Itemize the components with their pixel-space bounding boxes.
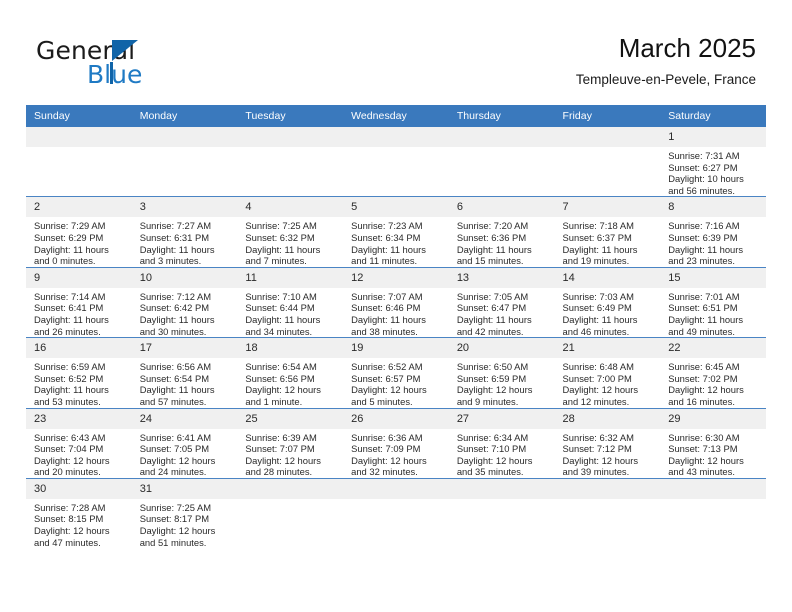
daylight-text-line1: Daylight: 12 hours: [34, 525, 126, 537]
daylight-text-line1: Daylight: 11 hours: [34, 244, 126, 256]
daylight-text-line1: Daylight: 11 hours: [668, 244, 760, 256]
daylight-text-line1: Daylight: 11 hours: [351, 314, 443, 326]
day-number: 24: [132, 409, 238, 429]
calendar-day-cell[interactable]: 17Sunrise: 6:56 AMSunset: 6:54 PMDayligh…: [132, 338, 238, 408]
calendar-day-cell[interactable]: 5Sunrise: 7:23 AMSunset: 6:34 PMDaylight…: [343, 197, 449, 267]
sunrise-text: Sunrise: 6:30 AM: [668, 432, 760, 444]
day-number: [555, 479, 661, 499]
daylight-text-line2: and 43 minutes.: [668, 466, 760, 478]
weekday-header-monday: Monday: [132, 105, 238, 127]
day-number: [660, 479, 766, 499]
sunset-text: Sunset: 6:31 PM: [140, 232, 232, 244]
daylight-text-line1: Daylight: 12 hours: [351, 384, 443, 396]
day-details: Sunrise: 6:48 AMSunset: 7:00 PMDaylight:…: [555, 358, 661, 407]
daylight-text-line1: Daylight: 11 hours: [140, 384, 232, 396]
day-number: 29: [660, 409, 766, 429]
daylight-text-line2: and 42 minutes.: [457, 326, 549, 338]
daylight-text-line1: Daylight: 12 hours: [140, 455, 232, 467]
day-number: 16: [26, 338, 132, 358]
sunrise-text: Sunrise: 7:18 AM: [563, 220, 655, 232]
daylight-text-line2: and 23 minutes.: [668, 255, 760, 267]
day-details: Sunrise: 7:25 AMSunset: 6:32 PMDaylight:…: [237, 217, 343, 266]
calendar-day-cell[interactable]: 11Sunrise: 7:10 AMSunset: 6:44 PMDayligh…: [237, 267, 343, 337]
sunrise-text: Sunrise: 7:27 AM: [140, 220, 232, 232]
day-number: 7: [555, 197, 661, 217]
daylight-text-line2: and 12 minutes.: [563, 396, 655, 408]
sunrise-text: Sunrise: 6:36 AM: [351, 432, 443, 444]
daylight-text-line2: and 15 minutes.: [457, 255, 549, 267]
daylight-text-line2: and 0 minutes.: [34, 255, 126, 267]
daylight-text-line2: and 30 minutes.: [140, 326, 232, 338]
sunset-text: Sunset: 6:52 PM: [34, 373, 126, 385]
sunrise-text: Sunrise: 6:54 AM: [245, 361, 337, 373]
daylight-text-line2: and 56 minutes.: [668, 185, 760, 197]
calendar-week-row: 1Sunrise: 7:31 AMSunset: 6:27 PMDaylight…: [26, 127, 766, 197]
daylight-text-line2: and 49 minutes.: [668, 326, 760, 338]
day-number: 22: [660, 338, 766, 358]
sunset-text: Sunset: 6:49 PM: [563, 302, 655, 314]
calendar-day-cell[interactable]: 1Sunrise: 7:31 AMSunset: 6:27 PMDaylight…: [660, 127, 766, 197]
sunrise-text: Sunrise: 6:43 AM: [34, 432, 126, 444]
sunset-text: Sunset: 6:46 PM: [351, 302, 443, 314]
sunrise-text: Sunrise: 6:50 AM: [457, 361, 549, 373]
sunrise-text: Sunrise: 7:14 AM: [34, 291, 126, 303]
sunset-text: Sunset: 6:37 PM: [563, 232, 655, 244]
daylight-text-line2: and 24 minutes.: [140, 466, 232, 478]
calendar-day-cell[interactable]: 22Sunrise: 6:45 AMSunset: 7:02 PMDayligh…: [660, 338, 766, 408]
calendar-day-cell[interactable]: 15Sunrise: 7:01 AMSunset: 6:51 PMDayligh…: [660, 267, 766, 337]
sunrise-text: Sunrise: 7:25 AM: [245, 220, 337, 232]
day-details: Sunrise: 7:25 AMSunset: 8:17 PMDaylight:…: [132, 499, 238, 548]
day-details: Sunrise: 6:54 AMSunset: 6:56 PMDaylight:…: [237, 358, 343, 407]
calendar-grid: Sunday Monday Tuesday Wednesday Thursday…: [26, 105, 766, 548]
sunset-text: Sunset: 7:05 PM: [140, 443, 232, 455]
page-header: General Blue March 2025 Templeuve-en-Pev…: [0, 0, 792, 104]
calendar-day-cell[interactable]: 29Sunrise: 6:30 AMSunset: 7:13 PMDayligh…: [660, 408, 766, 478]
calendar-day-cell[interactable]: 24Sunrise: 6:41 AMSunset: 7:05 PMDayligh…: [132, 408, 238, 478]
day-number: 27: [449, 409, 555, 429]
day-number: [132, 127, 238, 147]
day-number: 4: [237, 197, 343, 217]
daylight-text-line1: Daylight: 10 hours: [668, 173, 760, 185]
weekday-header-thursday: Thursday: [449, 105, 555, 127]
sunrise-text: Sunrise: 6:52 AM: [351, 361, 443, 373]
day-details: Sunrise: 7:20 AMSunset: 6:36 PMDaylight:…: [449, 217, 555, 266]
day-number: 19: [343, 338, 449, 358]
sunset-text: Sunset: 7:13 PM: [668, 443, 760, 455]
calendar-day-cell[interactable]: 31Sunrise: 7:25 AMSunset: 8:17 PMDayligh…: [132, 478, 238, 548]
daylight-text-line1: Daylight: 11 hours: [563, 244, 655, 256]
logo-word-blue: Blue: [87, 60, 142, 89]
calendar-day-cell-empty: [555, 478, 661, 548]
sunset-text: Sunset: 7:00 PM: [563, 373, 655, 385]
sunrise-text: Sunrise: 7:05 AM: [457, 291, 549, 303]
daylight-text-line1: Daylight: 12 hours: [34, 455, 126, 467]
sunrise-text: Sunrise: 7:31 AM: [668, 150, 760, 162]
day-details: Sunrise: 7:14 AMSunset: 6:41 PMDaylight:…: [26, 288, 132, 337]
sunrise-text: Sunrise: 6:41 AM: [140, 432, 232, 444]
calendar-week-row: 9Sunrise: 7:14 AMSunset: 6:41 PMDaylight…: [26, 267, 766, 337]
weekday-header-saturday: Saturday: [660, 105, 766, 127]
day-number: 1: [660, 127, 766, 147]
calendar-day-cell[interactable]: 10Sunrise: 7:12 AMSunset: 6:42 PMDayligh…: [132, 267, 238, 337]
calendar-day-cell[interactable]: 30Sunrise: 7:28 AMSunset: 8:15 PMDayligh…: [26, 478, 132, 548]
daylight-text-line2: and 53 minutes.: [34, 396, 126, 408]
calendar-day-cell-empty: [343, 127, 449, 197]
day-details: Sunrise: 7:10 AMSunset: 6:44 PMDaylight:…: [237, 288, 343, 337]
daylight-text-line1: Daylight: 11 hours: [245, 244, 337, 256]
calendar-page: General Blue March 2025 Templeuve-en-Pev…: [0, 0, 792, 612]
day-number: 31: [132, 479, 238, 499]
calendar-day-cell-empty: [449, 478, 555, 548]
day-number: 2: [26, 197, 132, 217]
sunset-text: Sunset: 6:57 PM: [351, 373, 443, 385]
calendar-day-cell[interactable]: 21Sunrise: 6:48 AMSunset: 7:00 PMDayligh…: [555, 338, 661, 408]
sunset-text: Sunset: 6:39 PM: [668, 232, 760, 244]
weekday-header-row: Sunday Monday Tuesday Wednesday Thursday…: [26, 105, 766, 127]
calendar-day-cell[interactable]: 27Sunrise: 6:34 AMSunset: 7:10 PMDayligh…: [449, 408, 555, 478]
calendar-day-cell-empty: [343, 478, 449, 548]
sunset-text: Sunset: 6:32 PM: [245, 232, 337, 244]
day-details: Sunrise: 7:27 AMSunset: 6:31 PMDaylight:…: [132, 217, 238, 266]
day-number: 15: [660, 268, 766, 288]
day-number: 14: [555, 268, 661, 288]
day-details: Sunrise: 6:43 AMSunset: 7:04 PMDaylight:…: [26, 429, 132, 478]
sunset-text: Sunset: 6:44 PM: [245, 302, 337, 314]
daylight-text-line1: Daylight: 11 hours: [140, 244, 232, 256]
sunrise-text: Sunrise: 7:28 AM: [34, 502, 126, 514]
day-details: Sunrise: 7:01 AMSunset: 6:51 PMDaylight:…: [660, 288, 766, 337]
sunrise-text: Sunrise: 6:32 AM: [563, 432, 655, 444]
day-number: [449, 479, 555, 499]
daylight-text-line2: and 11 minutes.: [351, 255, 443, 267]
sunset-text: Sunset: 6:34 PM: [351, 232, 443, 244]
daylight-text-line2: and 20 minutes.: [34, 466, 126, 478]
sunrise-text: Sunrise: 6:59 AM: [34, 361, 126, 373]
day-details: Sunrise: 6:45 AMSunset: 7:02 PMDaylight:…: [660, 358, 766, 407]
daylight-text-line2: and 57 minutes.: [140, 396, 232, 408]
sunrise-text: Sunrise: 6:48 AM: [563, 361, 655, 373]
calendar-day-cell-empty: [237, 127, 343, 197]
sunset-text: Sunset: 6:29 PM: [34, 232, 126, 244]
sunrise-text: Sunrise: 7:12 AM: [140, 291, 232, 303]
sunrise-text: Sunrise: 6:56 AM: [140, 361, 232, 373]
general-blue-logo[interactable]: General Blue: [36, 36, 216, 92]
day-details: Sunrise: 6:36 AMSunset: 7:09 PMDaylight:…: [343, 429, 449, 478]
day-details: Sunrise: 6:59 AMSunset: 6:52 PMDaylight:…: [26, 358, 132, 407]
day-number: [555, 127, 661, 147]
calendar-day-cell[interactable]: 2Sunrise: 7:29 AMSunset: 6:29 PMDaylight…: [26, 197, 132, 267]
day-details: Sunrise: 7:12 AMSunset: 6:42 PMDaylight:…: [132, 288, 238, 337]
daylight-text-line2: and 34 minutes.: [245, 326, 337, 338]
calendar-week-row: 30Sunrise: 7:28 AMSunset: 8:15 PMDayligh…: [26, 478, 766, 548]
calendar-week-row: 16Sunrise: 6:59 AMSunset: 6:52 PMDayligh…: [26, 338, 766, 408]
sunset-text: Sunset: 6:54 PM: [140, 373, 232, 385]
daylight-text-line1: Daylight: 12 hours: [245, 455, 337, 467]
sunset-text: Sunset: 6:51 PM: [668, 302, 760, 314]
title-block: March 2025 Templeuve-en-Pevele, France: [576, 32, 756, 88]
daylight-text-line2: and 16 minutes.: [668, 396, 760, 408]
daylight-text-line1: Daylight: 11 hours: [351, 244, 443, 256]
day-details: Sunrise: 7:03 AMSunset: 6:49 PMDaylight:…: [555, 288, 661, 337]
daylight-text-line1: Daylight: 11 hours: [457, 244, 549, 256]
day-details: Sunrise: 6:30 AMSunset: 7:13 PMDaylight:…: [660, 429, 766, 478]
weekday-header-friday: Friday: [555, 105, 661, 127]
day-number: 10: [132, 268, 238, 288]
day-number: 17: [132, 338, 238, 358]
calendar-day-cell[interactable]: 26Sunrise: 6:36 AMSunset: 7:09 PMDayligh…: [343, 408, 449, 478]
daylight-text-line2: and 26 minutes.: [34, 326, 126, 338]
sunset-text: Sunset: 7:12 PM: [563, 443, 655, 455]
sunset-text: Sunset: 8:15 PM: [34, 513, 126, 525]
calendar-week-row: 2Sunrise: 7:29 AMSunset: 6:29 PMDaylight…: [26, 197, 766, 267]
day-number: [343, 479, 449, 499]
daylight-text-line1: Daylight: 12 hours: [457, 384, 549, 396]
daylight-text-line2: and 35 minutes.: [457, 466, 549, 478]
day-details: Sunrise: 6:39 AMSunset: 7:07 PMDaylight:…: [237, 429, 343, 478]
sunrise-text: Sunrise: 7:01 AM: [668, 291, 760, 303]
sunset-text: Sunset: 7:04 PM: [34, 443, 126, 455]
day-number: [237, 127, 343, 147]
day-number: 20: [449, 338, 555, 358]
sunrise-text: Sunrise: 7:10 AM: [245, 291, 337, 303]
day-number: 5: [343, 197, 449, 217]
daylight-text-line1: Daylight: 11 hours: [668, 314, 760, 326]
sunset-text: Sunset: 7:09 PM: [351, 443, 443, 455]
calendar-day-cell[interactable]: 3Sunrise: 7:27 AMSunset: 6:31 PMDaylight…: [132, 197, 238, 267]
daylight-text-line1: Daylight: 11 hours: [34, 384, 126, 396]
daylight-text-line2: and 19 minutes.: [563, 255, 655, 267]
sunset-text: Sunset: 6:41 PM: [34, 302, 126, 314]
day-number: 9: [26, 268, 132, 288]
calendar-day-cell-empty: [237, 478, 343, 548]
day-number: 18: [237, 338, 343, 358]
daylight-text-line1: Daylight: 12 hours: [668, 384, 760, 396]
sunset-text: Sunset: 6:36 PM: [457, 232, 549, 244]
sunrise-text: Sunrise: 7:20 AM: [457, 220, 549, 232]
weekday-header-wednesday: Wednesday: [343, 105, 449, 127]
sunset-text: Sunset: 6:27 PM: [668, 162, 760, 174]
daylight-text-line1: Daylight: 12 hours: [563, 384, 655, 396]
sunrise-text: Sunrise: 7:25 AM: [140, 502, 232, 514]
calendar-day-cell[interactable]: 19Sunrise: 6:52 AMSunset: 6:57 PMDayligh…: [343, 338, 449, 408]
day-number: 11: [237, 268, 343, 288]
daylight-text-line2: and 46 minutes.: [563, 326, 655, 338]
page-title: March 2025: [576, 32, 756, 64]
day-number: [237, 479, 343, 499]
sunrise-text: Sunrise: 6:39 AM: [245, 432, 337, 444]
day-details: Sunrise: 7:23 AMSunset: 6:34 PMDaylight:…: [343, 217, 449, 266]
weekday-header-sunday: Sunday: [26, 105, 132, 127]
calendar-day-cell[interactable]: 12Sunrise: 7:07 AMSunset: 6:46 PMDayligh…: [343, 267, 449, 337]
calendar-day-cell[interactable]: 23Sunrise: 6:43 AMSunset: 7:04 PMDayligh…: [26, 408, 132, 478]
daylight-text-line2: and 7 minutes.: [245, 255, 337, 267]
sunset-text: Sunset: 6:59 PM: [457, 373, 549, 385]
sunset-text: Sunset: 6:47 PM: [457, 302, 549, 314]
daylight-text-line2: and 5 minutes.: [351, 396, 443, 408]
calendar-day-cell[interactable]: 20Sunrise: 6:50 AMSunset: 6:59 PMDayligh…: [449, 338, 555, 408]
daylight-text-line1: Daylight: 11 hours: [140, 314, 232, 326]
day-details: Sunrise: 7:16 AMSunset: 6:39 PMDaylight:…: [660, 217, 766, 266]
day-number: 28: [555, 409, 661, 429]
page-subtitle: Templeuve-en-Pevele, France: [576, 71, 756, 88]
calendar-day-cell[interactable]: 28Sunrise: 6:32 AMSunset: 7:12 PMDayligh…: [555, 408, 661, 478]
sunset-text: Sunset: 6:42 PM: [140, 302, 232, 314]
daylight-text-line1: Daylight: 11 hours: [563, 314, 655, 326]
sunrise-text: Sunrise: 7:29 AM: [34, 220, 126, 232]
day-details: Sunrise: 7:29 AMSunset: 6:29 PMDaylight:…: [26, 217, 132, 266]
daylight-text-line2: and 47 minutes.: [34, 537, 126, 549]
sunrise-text: Sunrise: 6:45 AM: [668, 361, 760, 373]
calendar-day-cell-empty: [449, 127, 555, 197]
daylight-text-line1: Daylight: 11 hours: [245, 314, 337, 326]
sunset-text: Sunset: 8:17 PM: [140, 513, 232, 525]
daylight-text-line1: Daylight: 11 hours: [457, 314, 549, 326]
sunset-text: Sunset: 6:56 PM: [245, 373, 337, 385]
daylight-text-line2: and 51 minutes.: [140, 537, 232, 549]
triangle-icon: [112, 40, 138, 61]
calendar-day-cell[interactable]: 7Sunrise: 7:18 AMSunset: 6:37 PMDaylight…: [555, 197, 661, 267]
day-details: Sunrise: 6:50 AMSunset: 6:59 PMDaylight:…: [449, 358, 555, 407]
calendar-day-cell-empty: [26, 127, 132, 197]
calendar-day-cell[interactable]: 9Sunrise: 7:14 AMSunset: 6:41 PMDaylight…: [26, 267, 132, 337]
daylight-text-line1: Daylight: 11 hours: [34, 314, 126, 326]
day-details: Sunrise: 6:56 AMSunset: 6:54 PMDaylight:…: [132, 358, 238, 407]
daylight-text-line1: Daylight: 12 hours: [668, 455, 760, 467]
sunset-text: Sunset: 7:07 PM: [245, 443, 337, 455]
day-details: Sunrise: 6:41 AMSunset: 7:05 PMDaylight:…: [132, 429, 238, 478]
calendar-day-cell[interactable]: 16Sunrise: 6:59 AMSunset: 6:52 PMDayligh…: [26, 338, 132, 408]
calendar-day-cell-empty: [660, 478, 766, 548]
day-details: Sunrise: 6:32 AMSunset: 7:12 PMDaylight:…: [555, 429, 661, 478]
day-details: Sunrise: 6:52 AMSunset: 6:57 PMDaylight:…: [343, 358, 449, 407]
day-number: 23: [26, 409, 132, 429]
calendar-week-row: 23Sunrise: 6:43 AMSunset: 7:04 PMDayligh…: [26, 408, 766, 478]
day-details: Sunrise: 7:07 AMSunset: 6:46 PMDaylight:…: [343, 288, 449, 337]
day-number: 21: [555, 338, 661, 358]
day-details: Sunrise: 7:28 AMSunset: 8:15 PMDaylight:…: [26, 499, 132, 548]
day-details: Sunrise: 7:31 AMSunset: 6:27 PMDaylight:…: [660, 147, 766, 196]
daylight-text-line1: Daylight: 12 hours: [245, 384, 337, 396]
calendar-day-cell[interactable]: 18Sunrise: 6:54 AMSunset: 6:56 PMDayligh…: [237, 338, 343, 408]
day-number: [26, 127, 132, 147]
daylight-text-line2: and 39 minutes.: [563, 466, 655, 478]
calendar-day-cell-empty: [132, 127, 238, 197]
daylight-text-line2: and 32 minutes.: [351, 466, 443, 478]
calendar-day-cell[interactable]: 6Sunrise: 7:20 AMSunset: 6:36 PMDaylight…: [449, 197, 555, 267]
daylight-text-line1: Daylight: 12 hours: [563, 455, 655, 467]
sunrise-text: Sunrise: 7:07 AM: [351, 291, 443, 303]
daylight-text-line2: and 9 minutes.: [457, 396, 549, 408]
day-number: 12: [343, 268, 449, 288]
day-details: Sunrise: 7:18 AMSunset: 6:37 PMDaylight:…: [555, 217, 661, 266]
day-number: 30: [26, 479, 132, 499]
daylight-text-line2: and 38 minutes.: [351, 326, 443, 338]
calendar-day-cell-empty: [555, 127, 661, 197]
calendar-day-cell[interactable]: 13Sunrise: 7:05 AMSunset: 6:47 PMDayligh…: [449, 267, 555, 337]
calendar-body: 1Sunrise: 7:31 AMSunset: 6:27 PMDaylight…: [26, 127, 766, 548]
sunrise-text: Sunrise: 7:16 AM: [668, 220, 760, 232]
daylight-text-line1: Daylight: 12 hours: [457, 455, 549, 467]
daylight-text-line2: and 1 minute.: [245, 396, 337, 408]
calendar-day-cell[interactable]: 4Sunrise: 7:25 AMSunset: 6:32 PMDaylight…: [237, 197, 343, 267]
sunset-text: Sunset: 7:02 PM: [668, 373, 760, 385]
daylight-text-line2: and 28 minutes.: [245, 466, 337, 478]
day-number: 6: [449, 197, 555, 217]
day-details: Sunrise: 6:34 AMSunset: 7:10 PMDaylight:…: [449, 429, 555, 478]
sunrise-text: Sunrise: 7:23 AM: [351, 220, 443, 232]
day-number: 3: [132, 197, 238, 217]
daylight-text-line1: Daylight: 12 hours: [351, 455, 443, 467]
daylight-text-line1: Daylight: 12 hours: [140, 525, 232, 537]
day-number: 13: [449, 268, 555, 288]
calendar-day-cell[interactable]: 8Sunrise: 7:16 AMSunset: 6:39 PMDaylight…: [660, 197, 766, 267]
calendar-day-cell[interactable]: 25Sunrise: 6:39 AMSunset: 7:07 PMDayligh…: [237, 408, 343, 478]
day-number: 26: [343, 409, 449, 429]
day-number: 8: [660, 197, 766, 217]
sunrise-text: Sunrise: 6:34 AM: [457, 432, 549, 444]
calendar-day-cell[interactable]: 14Sunrise: 7:03 AMSunset: 6:49 PMDayligh…: [555, 267, 661, 337]
weekday-header-tuesday: Tuesday: [237, 105, 343, 127]
sunset-text: Sunset: 7:10 PM: [457, 443, 549, 455]
day-number: [449, 127, 555, 147]
day-number: 25: [237, 409, 343, 429]
daylight-text-line2: and 3 minutes.: [140, 255, 232, 267]
sunrise-text: Sunrise: 7:03 AM: [563, 291, 655, 303]
day-number: [343, 127, 449, 147]
day-details: Sunrise: 7:05 AMSunset: 6:47 PMDaylight:…: [449, 288, 555, 337]
